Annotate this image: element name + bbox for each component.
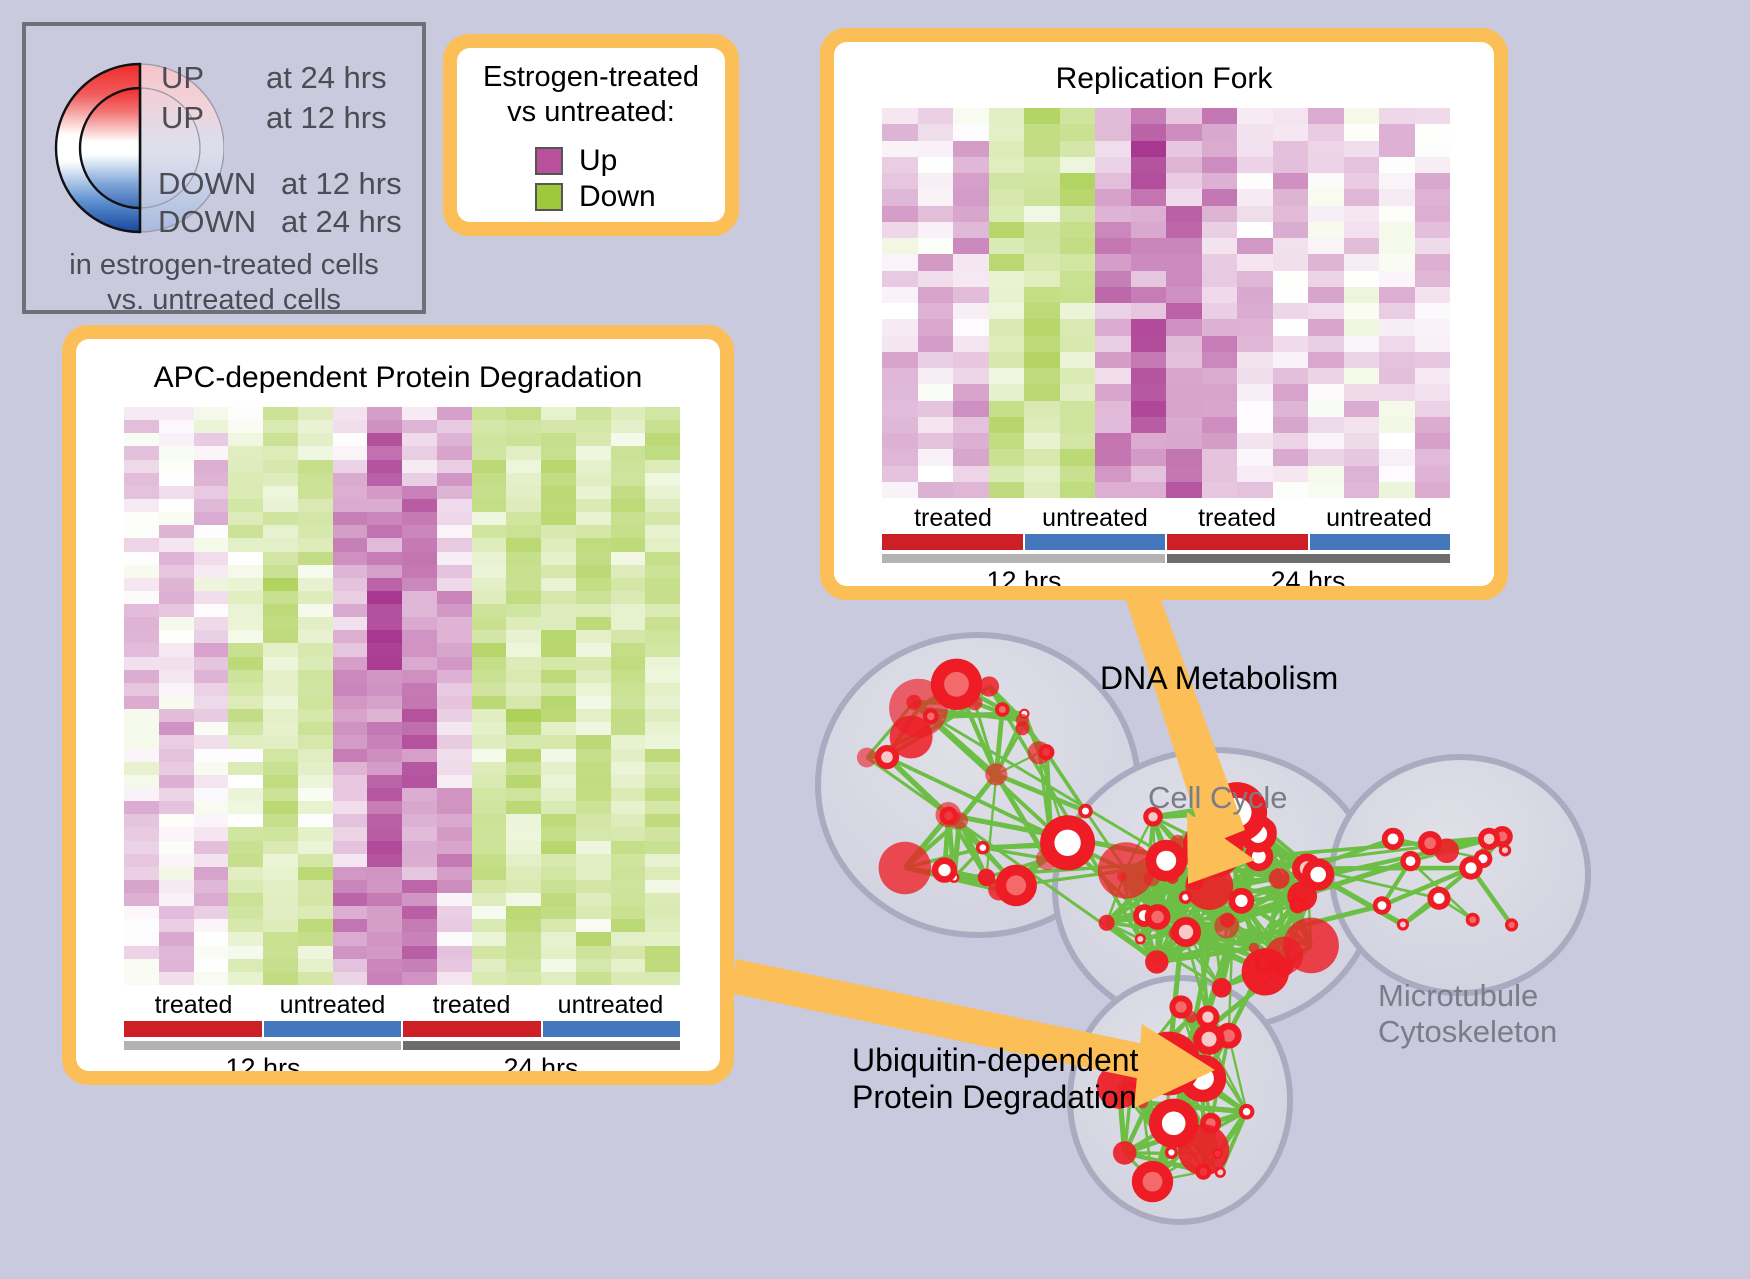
heatmap-cell — [228, 578, 263, 591]
heatmap-cell — [506, 486, 541, 499]
heatmap-cell — [1237, 303, 1273, 319]
heatmap-cell — [1166, 368, 1202, 384]
heatmap-cell — [1131, 238, 1167, 254]
heatmap-cell — [918, 254, 954, 270]
heatmap-cell — [1344, 173, 1380, 189]
heatmap-cell — [989, 303, 1025, 319]
color-key-item-down: Down — [535, 180, 656, 214]
apc-time-bar — [124, 1041, 680, 1050]
heatmap-cell — [298, 499, 333, 512]
heatmap-cell — [298, 749, 333, 762]
heatmap-cell — [194, 801, 229, 814]
heatmap-cell — [1379, 319, 1415, 335]
heatmap-cell — [472, 827, 507, 840]
heatmap-cell — [1131, 206, 1167, 222]
heatmap-cell — [541, 499, 576, 512]
heatmap-cell — [506, 512, 541, 525]
heatmap-cell — [953, 238, 989, 254]
heatmap-cell — [472, 643, 507, 656]
heatmap-cell — [228, 538, 263, 551]
heatmap-cell — [541, 630, 576, 643]
heatmap-cell — [1415, 108, 1451, 124]
apc-degradation-title: APC-dependent Protein Degradation — [76, 361, 720, 395]
heatmap-cell — [506, 959, 541, 972]
heatmap-cell — [263, 959, 298, 972]
heatmap-cell — [124, 433, 159, 446]
heatmap-cell — [1060, 433, 1096, 449]
heatmap-cell — [402, 630, 437, 643]
heatmap-cell — [333, 446, 368, 459]
heatmap-cell — [1131, 319, 1167, 335]
heatmap-cell — [506, 880, 541, 893]
heatmap-cell — [437, 446, 472, 459]
network-node — [1015, 721, 1029, 735]
heatmap-cell — [437, 735, 472, 748]
heatmap-cell — [367, 420, 402, 433]
heatmap-cell — [298, 512, 333, 525]
heatmap-cell — [124, 906, 159, 919]
heatmap-cell — [1308, 417, 1344, 433]
heatmap-cell — [194, 591, 229, 604]
heatmap-cell — [472, 512, 507, 525]
heatmap-cell — [1379, 141, 1415, 157]
heatmap-cell — [576, 407, 611, 420]
heatmap-cell — [402, 683, 437, 696]
heatmap-cell — [645, 525, 680, 538]
apc-time-labels: 12 hrs24 hrs — [124, 1053, 680, 1071]
heatmap-cell — [1024, 401, 1060, 417]
heatmap-cell — [402, 867, 437, 880]
heatmap-cell — [263, 735, 298, 748]
heatmap-cell — [159, 827, 194, 840]
heatmap-cell — [1060, 254, 1096, 270]
heatmap-cell — [333, 880, 368, 893]
heatmap-cell — [1060, 173, 1096, 189]
heatmap-cell — [1166, 254, 1202, 270]
heatmap-cell — [228, 433, 263, 446]
network-node-core — [1406, 856, 1416, 866]
heatmap-cell — [953, 206, 989, 222]
heatmap-cell — [576, 762, 611, 775]
heatmap-cell — [228, 446, 263, 459]
heatmap-cell — [437, 932, 472, 945]
heatmap-cell — [1166, 287, 1202, 303]
heatmap-cell — [298, 525, 333, 538]
heatmap-cell — [645, 919, 680, 932]
heatmap-cell — [1379, 336, 1415, 352]
heatmap-cell — [506, 591, 541, 604]
heatmap-cell — [1379, 466, 1415, 482]
heatmap-cell — [333, 473, 368, 486]
network-node-core — [1235, 895, 1247, 907]
heatmap-cell — [159, 578, 194, 591]
heatmap-cell — [1166, 384, 1202, 400]
heatmap-cell — [194, 525, 229, 538]
heatmap-cell — [576, 880, 611, 893]
heatmap-cell — [298, 735, 333, 748]
heatmap-cell — [1379, 449, 1415, 465]
heatmap-cell — [263, 420, 298, 433]
heatmap-cell — [159, 604, 194, 617]
heatmap-cell — [124, 499, 159, 512]
heatmap-cell — [367, 512, 402, 525]
heatmap-cell — [124, 460, 159, 473]
heatmap-cell — [298, 433, 333, 446]
heatmap-cell — [1237, 271, 1273, 287]
heatmap-cell — [1131, 401, 1167, 417]
heatmap-cell — [506, 814, 541, 827]
heatmap-cell — [437, 538, 472, 551]
color-key-title: Estrogen-treated vs untreated: — [457, 60, 725, 130]
heatmap-cell — [1344, 124, 1380, 140]
heatmap-cell — [263, 788, 298, 801]
heatmap-cell — [1273, 108, 1309, 124]
heatmap-cell — [1273, 352, 1309, 368]
heatmap-cell — [159, 696, 194, 709]
heatmap-cell — [159, 525, 194, 538]
heatmap-cell — [1095, 287, 1131, 303]
heatmap-cell — [159, 932, 194, 945]
heatmap-cell — [367, 919, 402, 932]
heatmap-cell — [228, 762, 263, 775]
heatmap-cell — [918, 417, 954, 433]
heatmap-cell — [611, 854, 646, 867]
heatmap-cell — [124, 643, 159, 656]
heatmap-cell — [1237, 238, 1273, 254]
heatmap-cell — [1131, 303, 1167, 319]
heatmap-cell — [437, 709, 472, 722]
heatmap-cell — [263, 657, 298, 670]
heatmap-cell — [1024, 287, 1060, 303]
heatmap-cell — [333, 932, 368, 945]
heatmap-cell — [989, 449, 1025, 465]
heatmap-cell — [402, 722, 437, 735]
heatmap-cell — [263, 827, 298, 840]
heatmap-cell — [1202, 271, 1238, 287]
heatmap-cell — [1060, 206, 1096, 222]
heatmap-cell — [1273, 303, 1309, 319]
down-color-swatch — [535, 183, 563, 211]
heatmap-cell — [194, 407, 229, 420]
heatmap-cell — [1344, 254, 1380, 270]
heatmap-cell — [228, 946, 263, 959]
label-ubiquitin-line2: Protein Degradation — [852, 1079, 1138, 1116]
legend-time-up-12: at 12 hrs — [266, 100, 387, 136]
heatmap-cell — [1131, 124, 1167, 140]
heatmap-cell — [918, 141, 954, 157]
heatmap-cell — [124, 801, 159, 814]
condition-bar-segment — [543, 1021, 681, 1037]
network-node-core — [1143, 1172, 1163, 1192]
heatmap-cell — [1237, 417, 1273, 433]
heatmap-cell — [367, 854, 402, 867]
heatmap-cell — [918, 466, 954, 482]
heatmap-cell — [1024, 319, 1060, 335]
heatmap-cell — [333, 407, 368, 420]
heatmap-cell — [645, 762, 680, 775]
network-node — [1099, 915, 1115, 931]
heatmap-cell — [1379, 189, 1415, 205]
heatmap-cell — [611, 775, 646, 788]
heatmap-cell — [159, 814, 194, 827]
heatmap-cell — [989, 189, 1025, 205]
heatmap-cell — [194, 919, 229, 932]
network-node — [1178, 1124, 1229, 1175]
heatmap-cell — [333, 420, 368, 433]
heatmap-cell — [402, 552, 437, 565]
heatmap-cell — [1237, 384, 1273, 400]
heatmap-cell — [989, 352, 1025, 368]
heatmap-cell — [1415, 287, 1451, 303]
heatmap-cell — [576, 709, 611, 722]
heatmap-cell — [541, 591, 576, 604]
heatmap-cell — [367, 827, 402, 840]
heatmap-cell — [402, 788, 437, 801]
heatmap-cell — [159, 499, 194, 512]
heatmap-cell — [472, 420, 507, 433]
heatmap-cell — [437, 512, 472, 525]
heatmap-cell — [882, 271, 918, 287]
heatmap-cell — [333, 670, 368, 683]
heatmap-cell — [1095, 222, 1131, 238]
heatmap-cell — [194, 735, 229, 748]
heatmap-cell — [437, 420, 472, 433]
heatmap-cell — [367, 591, 402, 604]
heatmap-cell — [611, 814, 646, 827]
heatmap-cell — [611, 696, 646, 709]
heatmap-cell — [611, 407, 646, 420]
heatmap-cell — [1131, 157, 1167, 173]
heatmap-cell — [1131, 352, 1167, 368]
heatmap-cell — [228, 683, 263, 696]
heatmap-cell — [367, 538, 402, 551]
heatmap-cell — [298, 709, 333, 722]
heatmap-cell — [263, 867, 298, 880]
heatmap-cell — [989, 417, 1025, 433]
heatmap-cell — [194, 880, 229, 893]
heatmap-cell — [541, 670, 576, 683]
heatmap-cell — [1344, 319, 1380, 335]
heatmap-cell — [159, 630, 194, 643]
heatmap-cell — [437, 919, 472, 932]
heatmap-cell — [611, 683, 646, 696]
condition-bar-segment — [264, 1021, 404, 1037]
heatmap-cell — [989, 319, 1025, 335]
heatmap-cell — [124, 880, 159, 893]
heatmap-cell — [882, 368, 918, 384]
heatmap-cell — [124, 959, 159, 972]
time-label: 24 hrs — [1166, 566, 1450, 586]
heatmap-cell — [263, 499, 298, 512]
heatmap-cell — [918, 368, 954, 384]
heatmap-cell — [194, 867, 229, 880]
heatmap-cell — [402, 538, 437, 551]
heatmap-cell — [159, 788, 194, 801]
heatmap-cell — [437, 525, 472, 538]
heatmap-cell — [541, 512, 576, 525]
heatmap-cell — [1095, 336, 1131, 352]
heatmap-cell — [1095, 108, 1131, 124]
heatmap-cell — [159, 433, 194, 446]
heatmap-cell — [576, 670, 611, 683]
heatmap-cell — [645, 552, 680, 565]
heatmap-cell — [1024, 368, 1060, 384]
heatmap-cell — [882, 287, 918, 303]
heatmap-cell — [402, 460, 437, 473]
heatmap-cell — [367, 749, 402, 762]
heatmap-cell — [228, 486, 263, 499]
heatmap-cell — [1095, 271, 1131, 287]
heatmap-cell — [402, 801, 437, 814]
heatmap-cell — [1415, 433, 1451, 449]
heatmap-cell — [194, 473, 229, 486]
heatmap-cell — [228, 617, 263, 630]
heatmap-cell — [918, 287, 954, 303]
heatmap-cell — [1273, 189, 1309, 205]
heatmap-cell — [298, 906, 333, 919]
heatmap-cell — [124, 552, 159, 565]
heatmap-cell — [194, 683, 229, 696]
heatmap-cell — [298, 538, 333, 551]
heatmap-cell — [1379, 401, 1415, 417]
heatmap-cell — [541, 407, 576, 420]
heatmap-cell — [1202, 336, 1238, 352]
heatmap-cell — [1379, 254, 1415, 270]
label-dna-metabolism: DNA Metabolism — [1100, 660, 1338, 697]
heatmap-cell — [402, 565, 437, 578]
heatmap-cell — [124, 749, 159, 762]
heatmap-cell — [1308, 206, 1344, 222]
heatmap-cell — [194, 486, 229, 499]
heatmap-cell — [1379, 287, 1415, 303]
heatmap-cell — [1131, 449, 1167, 465]
heatmap-cell — [611, 906, 646, 919]
heatmap-cell — [402, 407, 437, 420]
heatmap-cell — [228, 788, 263, 801]
heatmap-cell — [159, 565, 194, 578]
heatmap-cell — [367, 841, 402, 854]
heatmap-cell — [1237, 254, 1273, 270]
network-node-core — [881, 751, 893, 763]
heatmap-cell — [472, 525, 507, 538]
heatmap-cell — [159, 906, 194, 919]
heatmap-cell — [1415, 189, 1451, 205]
heatmap-cell — [437, 683, 472, 696]
replication-fork-time-bar — [882, 554, 1450, 563]
heatmap-cell — [989, 124, 1025, 140]
heatmap-cell — [1095, 368, 1131, 384]
heatmap-cell — [1415, 238, 1451, 254]
heatmap-cell — [576, 433, 611, 446]
heatmap-cell — [1095, 401, 1131, 417]
heatmap-cell — [1166, 173, 1202, 189]
heatmap-cell — [918, 124, 954, 140]
heatmap-cell — [1379, 157, 1415, 173]
heatmap-cell — [1095, 141, 1131, 157]
heatmap-cell — [437, 617, 472, 630]
heatmap-cell — [333, 946, 368, 959]
heatmap-cell — [402, 919, 437, 932]
heatmap-cell — [472, 919, 507, 932]
heatmap-cell — [1415, 173, 1451, 189]
heatmap-cell — [1344, 352, 1380, 368]
network-node-core — [1424, 837, 1436, 849]
heatmap-cell — [611, 867, 646, 880]
heatmap-cell — [576, 512, 611, 525]
heatmap-cell — [437, 801, 472, 814]
heatmap-cell — [576, 657, 611, 670]
heatmap-cell — [541, 722, 576, 735]
heatmap-cell — [159, 591, 194, 604]
heatmap-cell — [437, 827, 472, 840]
heatmap-cell — [194, 788, 229, 801]
heatmap-cell — [1237, 287, 1273, 303]
heatmap-cell — [576, 683, 611, 696]
heatmap-cell — [437, 565, 472, 578]
heatmap-cell — [576, 604, 611, 617]
heatmap-cell — [576, 946, 611, 959]
heatmap-cell — [1131, 141, 1167, 157]
heatmap-cell — [472, 893, 507, 906]
heatmap-cell — [263, 696, 298, 709]
heatmap-cell — [228, 906, 263, 919]
heatmap-cell — [576, 473, 611, 486]
heatmap-cell — [541, 749, 576, 762]
heatmap-cell — [1131, 482, 1167, 498]
heatmap-cell — [194, 972, 229, 985]
heatmap-cell — [1308, 271, 1344, 287]
heatmap-cell — [402, 893, 437, 906]
heatmap-cell — [437, 657, 472, 670]
heatmap-cell — [228, 972, 263, 985]
heatmap-cell — [298, 893, 333, 906]
heatmap-cell — [1273, 157, 1309, 173]
heatmap-cell — [506, 722, 541, 735]
heatmap-cell — [333, 591, 368, 604]
network-node — [879, 842, 932, 895]
heatmap-cell — [576, 446, 611, 459]
heatmap-cell — [228, 827, 263, 840]
heatmap-cell — [159, 775, 194, 788]
heatmap-cell — [1273, 368, 1309, 384]
heatmap-cell — [541, 525, 576, 538]
heatmap-cell — [506, 827, 541, 840]
heatmap-cell — [1344, 157, 1380, 173]
heatmap-cell — [367, 460, 402, 473]
heatmap-cell — [645, 446, 680, 459]
heatmap-cell — [194, 538, 229, 551]
heatmap-cell — [1060, 417, 1096, 433]
legend-caption-line2: vs. untreated cells — [26, 283, 422, 318]
heatmap-cell — [1095, 189, 1131, 205]
heatmap-cell — [367, 932, 402, 945]
heatmap-cell — [576, 486, 611, 499]
heatmap-cell — [611, 643, 646, 656]
heatmap-cell — [367, 762, 402, 775]
heatmap-cell — [882, 466, 918, 482]
heatmap-cell — [506, 604, 541, 617]
heatmap-cell — [298, 972, 333, 985]
heatmap-cell — [1202, 466, 1238, 482]
heatmap-cell — [1344, 401, 1380, 417]
heatmap-cell — [1060, 466, 1096, 482]
heatmap-cell — [1415, 206, 1451, 222]
time-label: 24 hrs — [402, 1053, 680, 1071]
heatmap-cell — [124, 854, 159, 867]
heatmap-cell — [611, 893, 646, 906]
heatmap-cell — [989, 433, 1025, 449]
heatmap-cell — [159, 972, 194, 985]
